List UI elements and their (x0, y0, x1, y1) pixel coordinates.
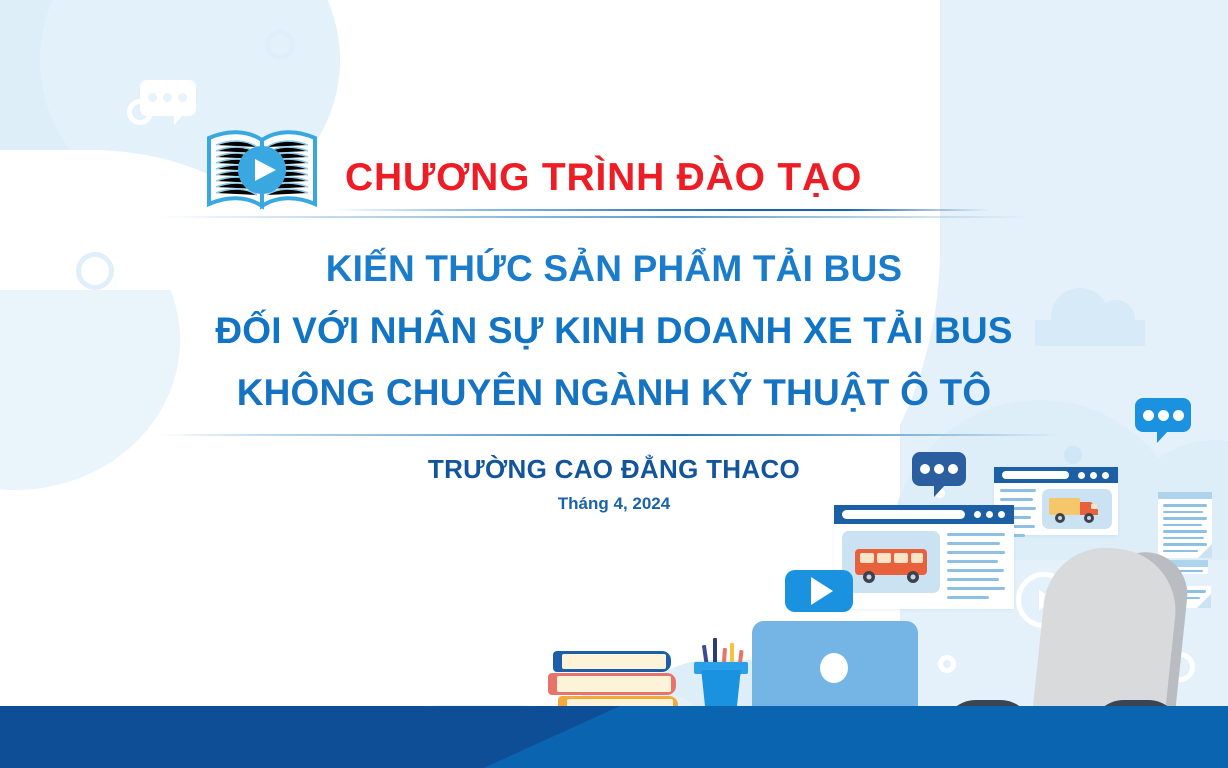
text-lines (1163, 504, 1207, 556)
title-line-2: ĐỐI VỚI NHÂN SỰ KINH DOANH XE TẢI BUS (0, 300, 1228, 362)
truck-thumbnail (1042, 489, 1112, 529)
title-line-1: KIẾN THỨC SẢN PHẨM TẢI BUS (0, 238, 1228, 300)
bus-icon (842, 531, 940, 593)
chat-bubble-icon (912, 452, 966, 486)
open-book-play-icon (205, 128, 319, 212)
divider-line (158, 434, 1058, 436)
play-button-icon[interactable] (785, 570, 853, 612)
laptop-screen-dot (820, 653, 848, 683)
truck-icon (1042, 489, 1112, 529)
ring-decoration (265, 30, 295, 60)
browser-window-card[interactable] (834, 505, 1014, 609)
document-header (1158, 492, 1212, 499)
divider-line (330, 209, 990, 211)
document-card[interactable] (1158, 492, 1212, 558)
ring-decoration (713, 567, 743, 597)
ring-decoration (938, 655, 956, 673)
book-item (553, 651, 671, 672)
book-item (548, 673, 676, 695)
text-lines (947, 533, 1005, 605)
ring-decoration (127, 99, 153, 125)
browser-title-bar (834, 505, 1014, 524)
divider-line (160, 216, 1030, 218)
browser-title-bar (994, 467, 1118, 483)
window-dots-icon (974, 511, 1005, 518)
window-dots-icon (1078, 472, 1109, 479)
presentation-slide: CHƯƠNG TRÌNH ĐÀO TẠO KIẾN THỨC SẢN PHẨM … (0, 0, 1228, 768)
bus-thumbnail (842, 531, 940, 593)
program-label: CHƯƠNG TRÌNH ĐÀO TẠO (345, 156, 862, 200)
page-title: KIẾN THỨC SẢN PHẨM TẢI BUS ĐỐI VỚI NHÂN … (0, 238, 1228, 424)
title-line-3: KHÔNG CHUYÊN NGÀNH KỸ THUẬT Ô TÔ (0, 362, 1228, 424)
chat-bubble-icon (1135, 398, 1191, 432)
